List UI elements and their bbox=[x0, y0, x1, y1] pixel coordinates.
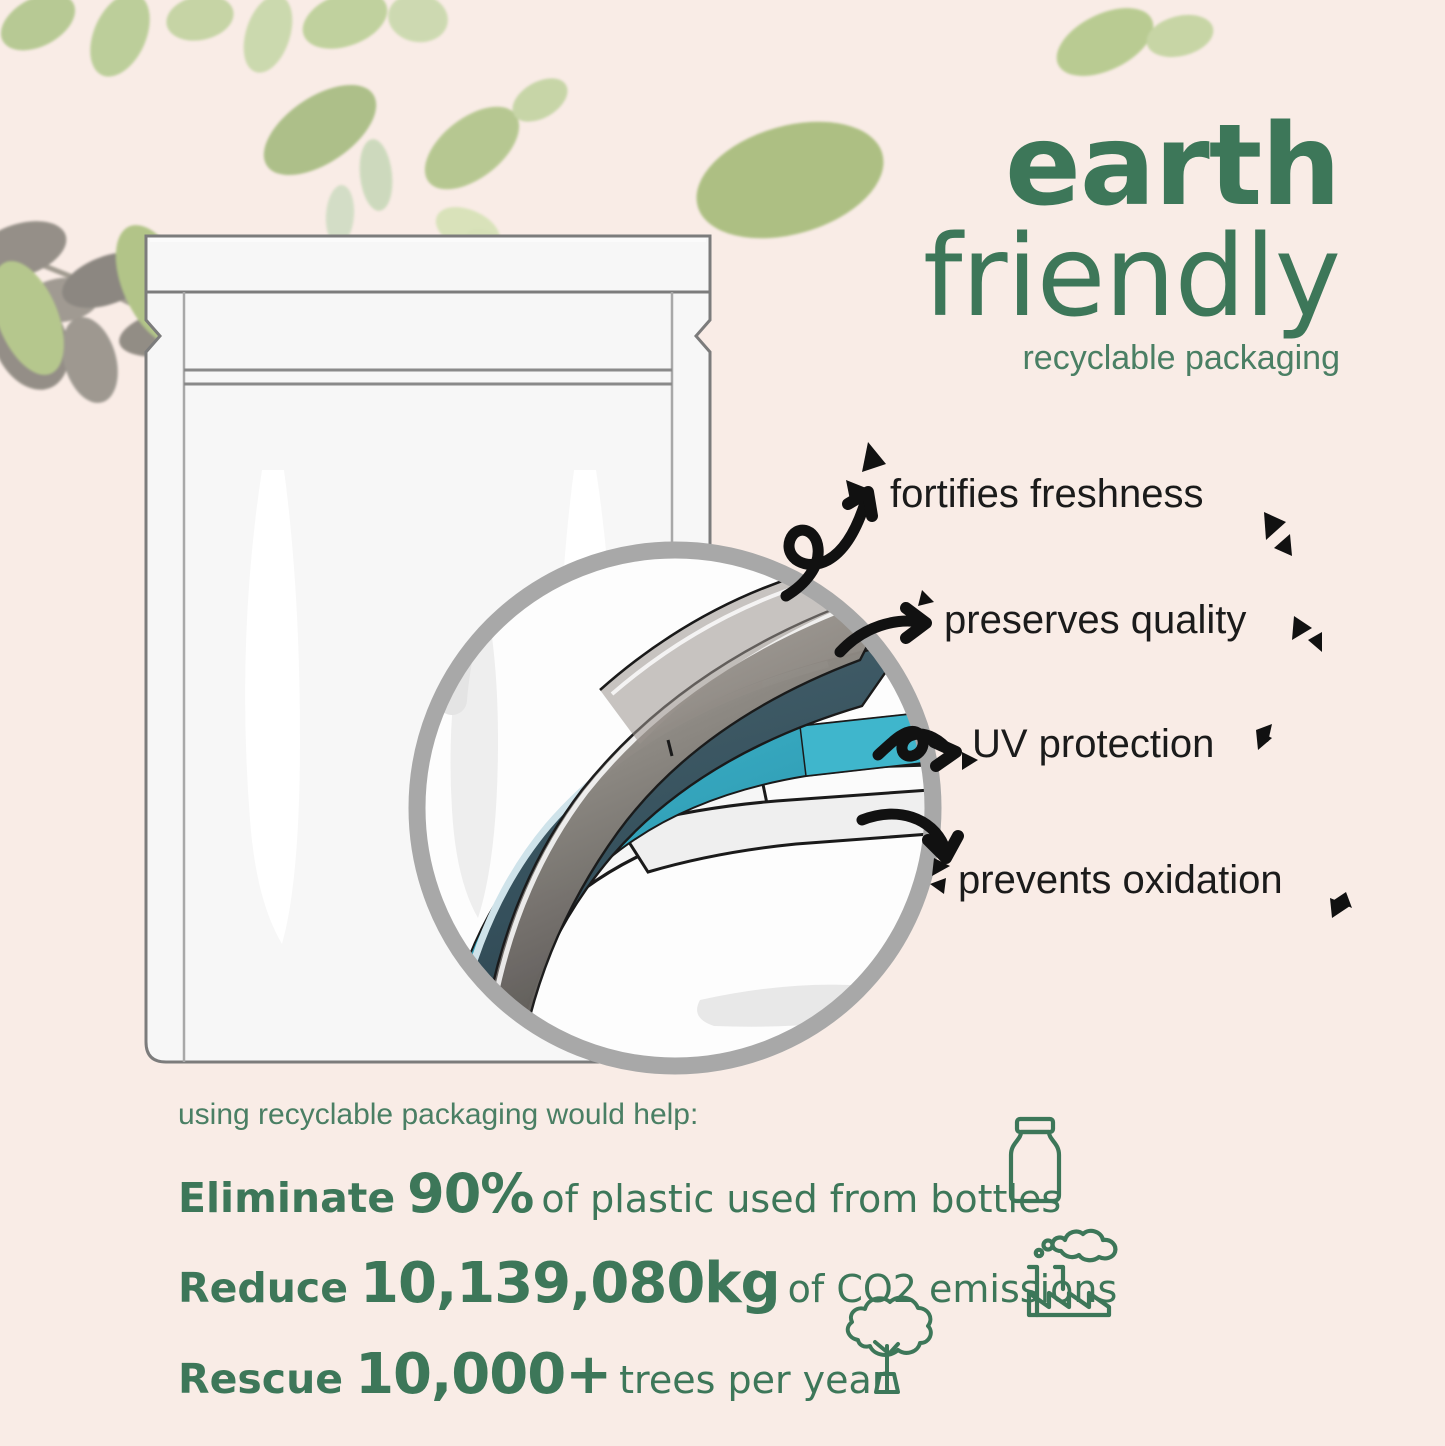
stat-verb: Rescue bbox=[178, 1355, 343, 1403]
bottle-icon bbox=[995, 1113, 1075, 1209]
stat-value: 90% bbox=[407, 1162, 533, 1225]
stat-verb: Eliminate bbox=[178, 1174, 395, 1222]
curly-arrow-icon bbox=[786, 492, 872, 596]
feature-label-fortifies-freshness: fortifies freshness bbox=[890, 472, 1203, 517]
headline-block: earth friendly recyclable packaging bbox=[700, 112, 1340, 378]
stat-value: 10,139,080kg bbox=[360, 1251, 780, 1316]
factory-icon bbox=[1015, 1215, 1127, 1325]
stats-intro-text: using recyclable packaging would help: bbox=[178, 1098, 1278, 1132]
feature-label-uv-protection: UV protection bbox=[972, 722, 1214, 767]
headline-line-1: earth bbox=[700, 112, 1340, 221]
headline-line-2: friendly bbox=[700, 221, 1340, 333]
stat-row-rescue: Rescue 10,000+ trees per year bbox=[178, 1342, 1278, 1407]
tree-icon bbox=[828, 1288, 946, 1406]
feature-label-prevents-oxidation: prevents oxidation bbox=[958, 858, 1283, 903]
stat-tail: of plastic used from bottles bbox=[541, 1177, 1061, 1221]
earth-friendly-infographic: earth friendly recyclable packaging fort… bbox=[0, 0, 1445, 1446]
feature-label-preserves-quality: preserves quality bbox=[944, 598, 1246, 643]
stat-value: 10,000+ bbox=[355, 1342, 611, 1407]
headline-subtitle: recyclable packaging bbox=[700, 339, 1340, 378]
stat-verb: Reduce bbox=[178, 1264, 348, 1312]
